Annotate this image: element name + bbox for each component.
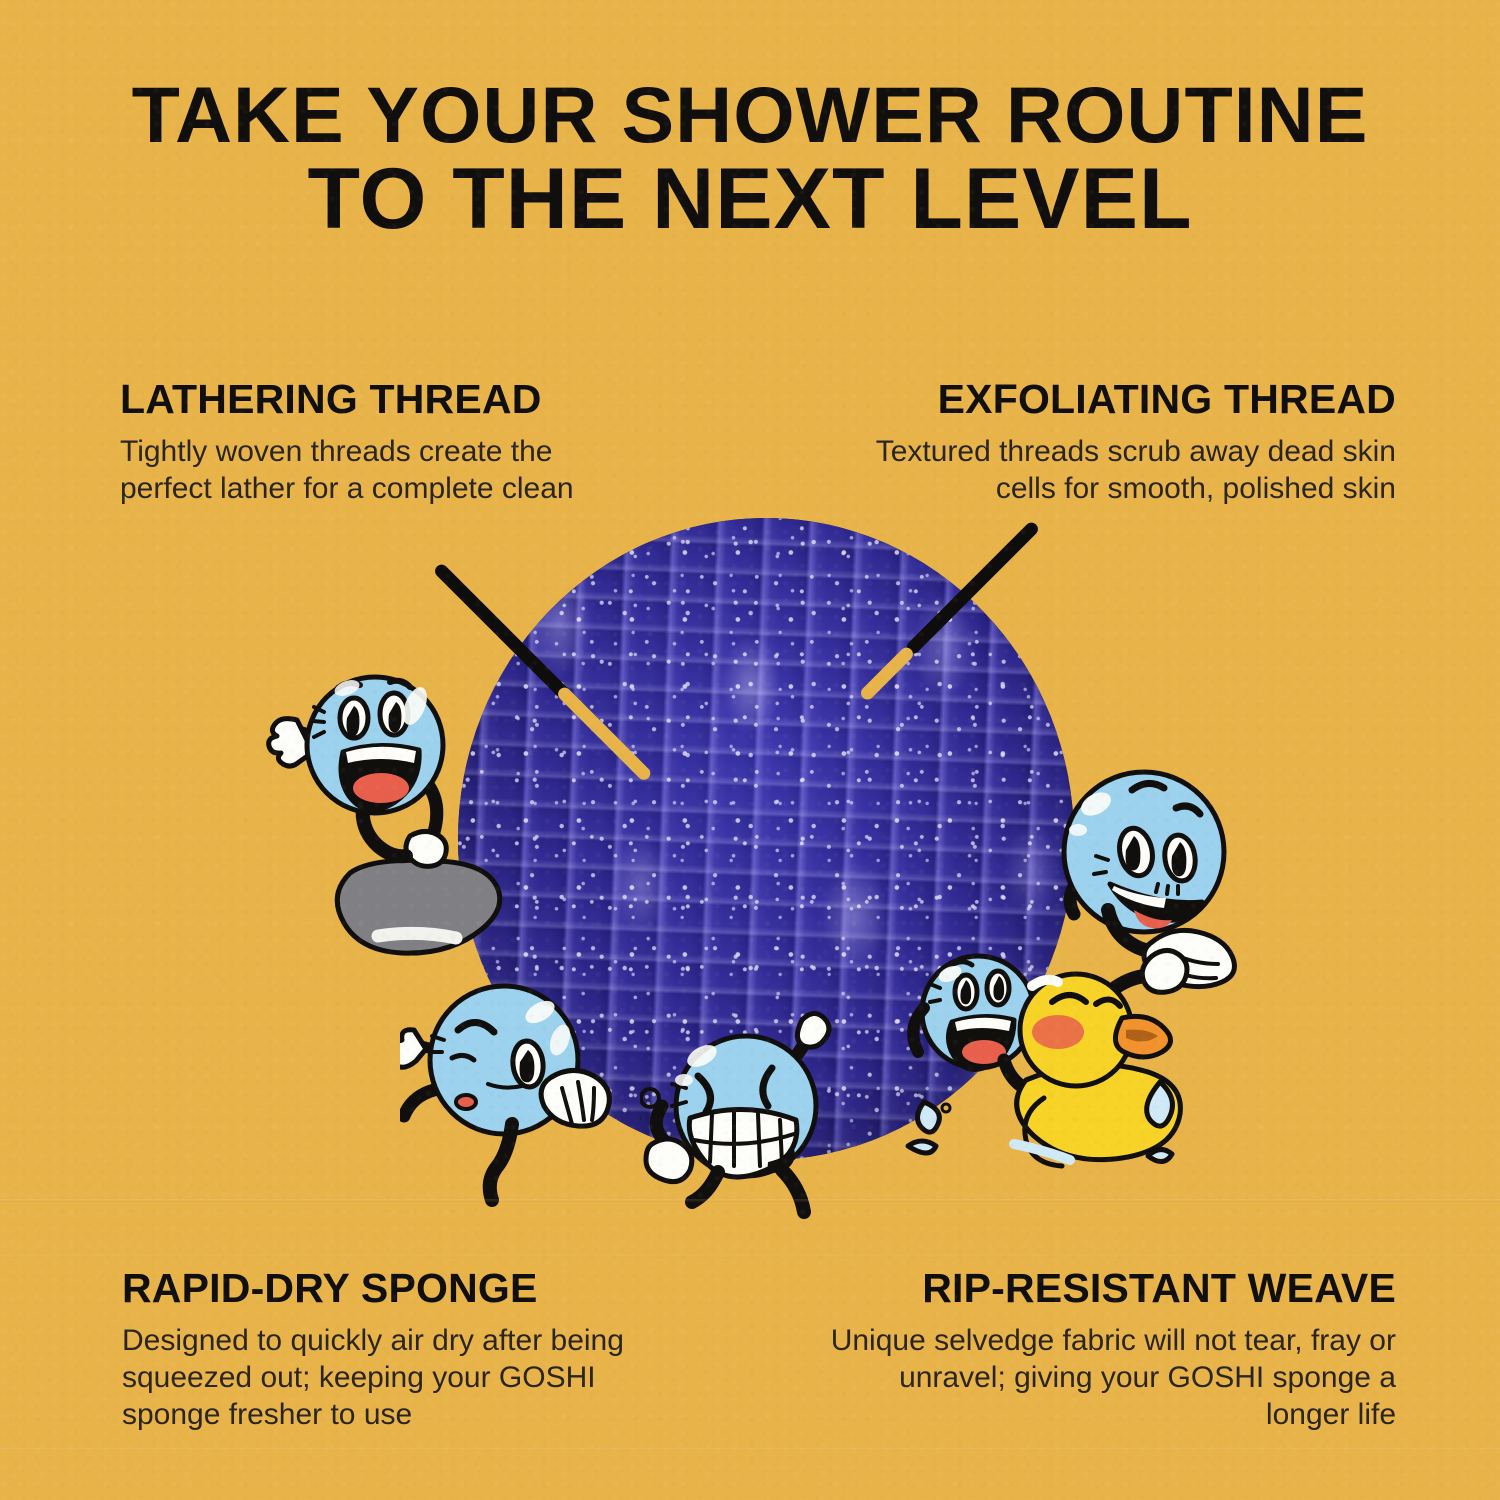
left-leg [692, 1172, 718, 1202]
bubble-character-grinning [640, 1010, 860, 1220]
title-line-2: TO THE NEXT LEVEL [0, 158, 1500, 240]
duck-cheek-blush [1032, 1015, 1084, 1049]
mouth [456, 1095, 476, 1109]
feature-rapid-dry-sponge: RAPID-DRY SPONGE Designed to quickly air… [122, 1267, 642, 1433]
soap-bubble-1 [641, 1089, 659, 1107]
splash-2 [908, 1141, 936, 1153]
paper-seam-2 [0, 1255, 1500, 1258]
infographic-poster: TAKE YOUR SHOWER ROUTINE TO THE NEXT LEV… [0, 0, 1500, 1500]
feature-rip-resistant-weave: RIP-RESISTANT WEAVE Unique selvedge fabr… [816, 1267, 1396, 1433]
feature-exfoliating-heading: EXFOLIATING THREAD [826, 378, 1396, 421]
right-leg [782, 1170, 804, 1212]
left-glove [646, 1139, 692, 1182]
bubble-dot-1 [942, 1104, 950, 1112]
bubble-character-with-razor [250, 648, 540, 978]
page-title: TAKE YOUR SHOWER ROUTINE TO THE NEXT LEV… [0, 74, 1500, 240]
feature-exfoliating-thread: EXFOLIATING THREAD Textured threads scru… [826, 378, 1396, 507]
head-highlight-2 [1069, 824, 1087, 836]
raised-glove [1142, 950, 1187, 992]
duck-head-highlight [1032, 980, 1058, 986]
pointing-glove [797, 1013, 829, 1047]
feature-exfoliating-body: Textured threads scrub away dead skin ce… [826, 433, 1396, 507]
razor-highlight [378, 933, 456, 938]
paper-seam-3 [0, 1448, 1500, 1451]
left-glove [400, 1030, 426, 1068]
feature-lathering-body: Tightly woven threads create the perfect… [120, 433, 640, 507]
splash-4 [1148, 1149, 1172, 1161]
feature-rip-resistant-heading: RIP-RESISTANT WEAVE [816, 1267, 1396, 1310]
feature-rapid-dry-heading: RAPID-DRY SPONGE [122, 1267, 642, 1310]
feature-lathering-heading: LATHERING THREAD [120, 378, 640, 421]
back-leg [404, 1090, 434, 1116]
head-highlight-2 [675, 1074, 693, 1086]
tongue [353, 773, 409, 803]
feature-rapid-dry-body: Designed to quickly air dry after being … [122, 1322, 642, 1433]
splash-1 [917, 1102, 939, 1132]
bubble-character-walking [400, 960, 650, 1210]
bubble-character-with-rubber-duck [900, 930, 1200, 1190]
title-line-1: TAKE YOUR SHOWER ROUTINE [0, 74, 1500, 156]
feature-lathering-thread: LATHERING THREAD Tightly woven threads c… [120, 378, 640, 507]
right-glove [541, 1070, 609, 1126]
right-glove [406, 831, 446, 866]
feature-rip-resistant-body: Unique selvedge fabric will not tear, fr… [816, 1322, 1396, 1433]
